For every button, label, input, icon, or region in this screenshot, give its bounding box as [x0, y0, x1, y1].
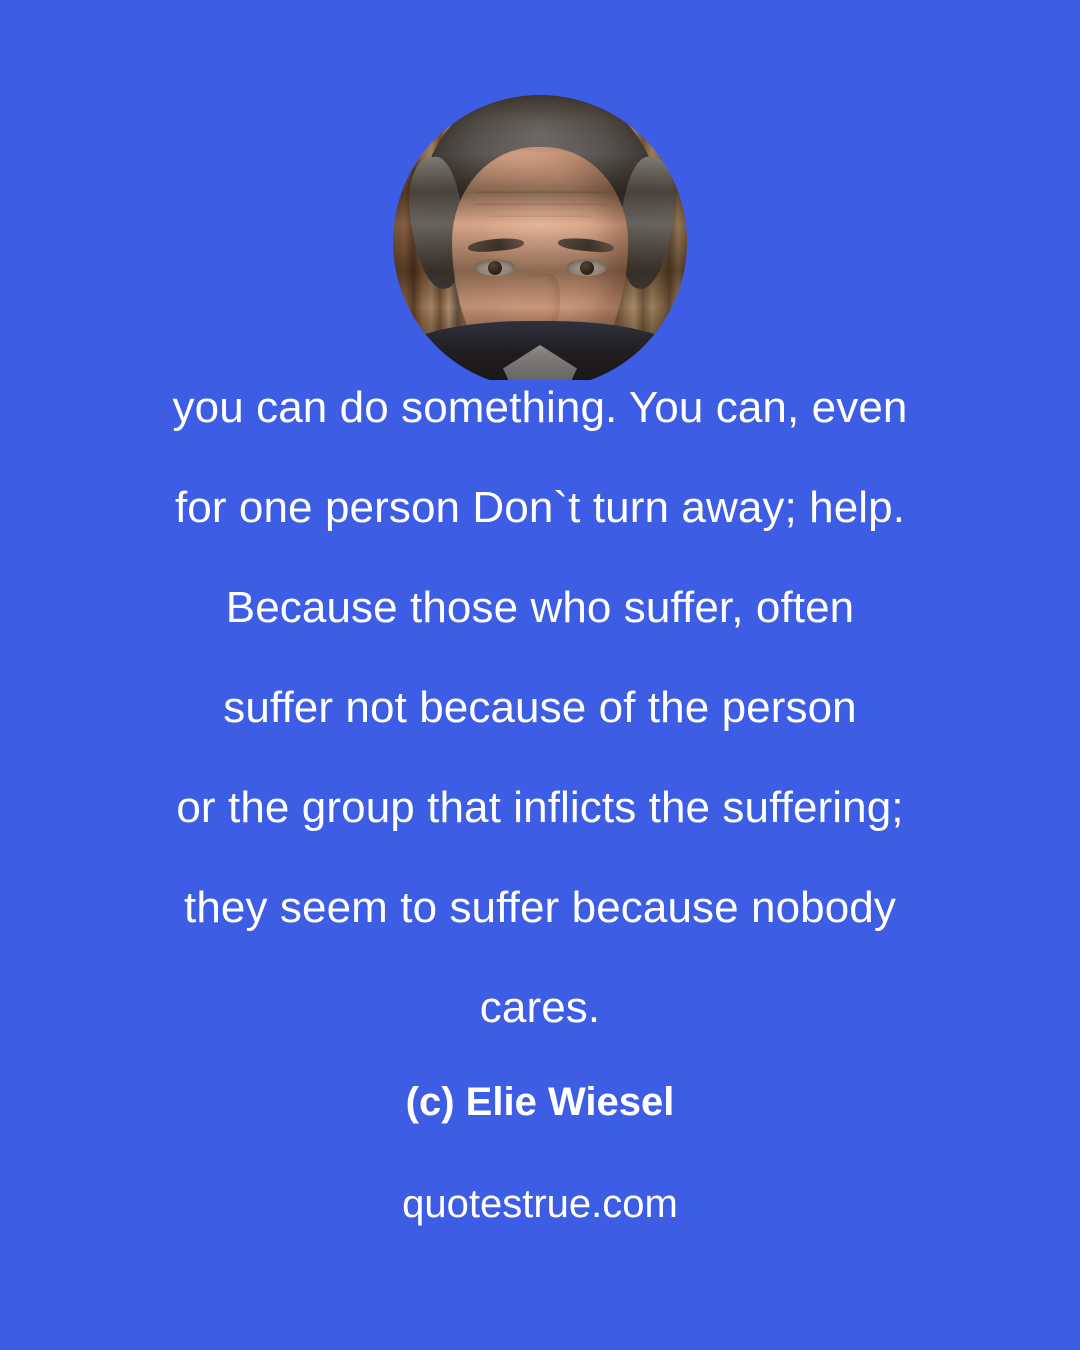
portrait-face [452, 147, 628, 383]
avatar-photo [393, 95, 687, 389]
portrait-cheek-right [592, 297, 626, 355]
quote-line: Because those who suffer, often [0, 558, 1080, 658]
quote-text: you can do something. You can, even for … [0, 358, 1080, 1058]
portrait-pupil-right [580, 261, 594, 275]
portrait-hair [421, 95, 659, 301]
quote-line: they seem to suffer because nobody [0, 858, 1080, 958]
quote-card: you can do something. You can, even for … [0, 0, 1080, 1350]
portrait-brow-right [558, 236, 615, 254]
portrait-cheek-left [456, 297, 490, 355]
site-watermark: quotestrue.com [0, 1178, 1080, 1230]
portrait-nose [520, 273, 560, 335]
portrait-eye-right [567, 259, 607, 276]
portrait-nostrils [518, 329, 562, 338]
portrait-eye-left [475, 259, 515, 276]
quote-attribution: (c) Elie Wiesel [0, 1076, 1080, 1128]
author-avatar [393, 95, 687, 389]
quote-line: for one person Don`t turn away; help. [0, 458, 1080, 558]
quote-line: suffer not because of the person [0, 658, 1080, 758]
quote-line: or the group that inflicts the suffering… [0, 758, 1080, 858]
portrait-forehead [474, 181, 606, 221]
portrait-brow-left [468, 237, 525, 254]
quote-line: cares. [0, 958, 1080, 1058]
quote-line: you can do something. You can, even [0, 358, 1080, 458]
portrait-pupil-left [488, 261, 502, 275]
portrait-hair-right [614, 155, 680, 292]
portrait-hair-left [404, 155, 470, 292]
